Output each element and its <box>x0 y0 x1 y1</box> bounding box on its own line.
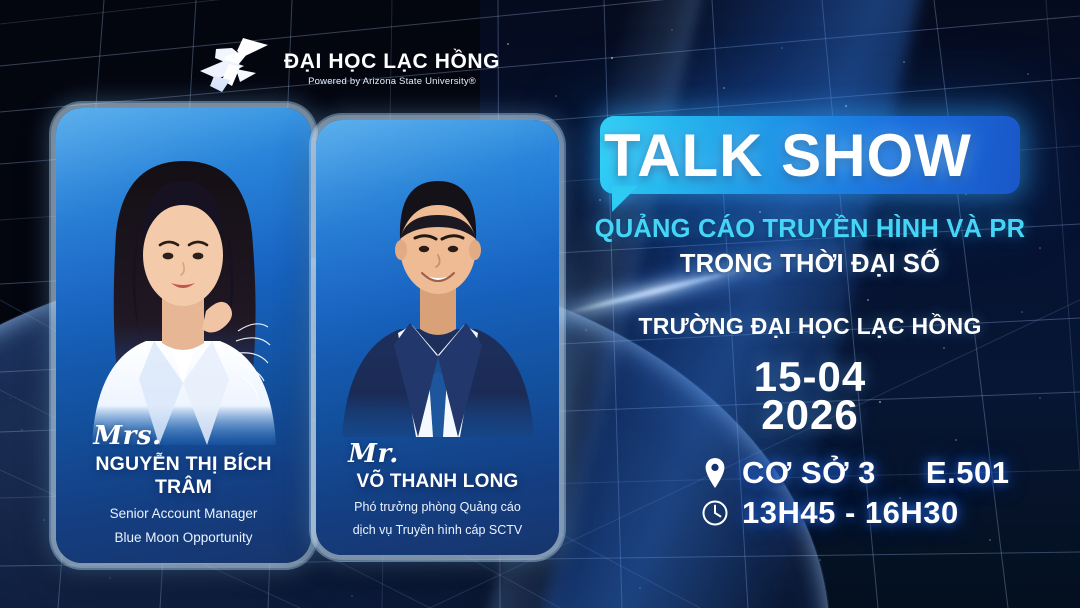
speaker-role-line1: Senior Account Manager <box>64 505 303 523</box>
talk-show-title: TALK SHOW <box>604 118 1044 192</box>
speaker-card[interactable]: Mr. VÕ THANH LONG Phó trưởng phòng Quảng… <box>316 120 559 555</box>
venue-campus: CƠ SỞ 3 <box>742 455 876 491</box>
speaker-name-block: Mr. VÕ THANH LONG Phó trưởng phòng Quảng… <box>316 441 559 539</box>
location-pin-icon <box>700 456 730 490</box>
speaker-role-line2: Blue Moon Opportunity <box>64 529 303 547</box>
time-range: 13H45 - 16H30 <box>742 495 959 531</box>
lac-hong-bird-logo-icon <box>196 36 274 96</box>
headline-line2: TRONG THỜI ĐẠI SỐ <box>580 250 1040 279</box>
speaker-portrait <box>56 115 311 445</box>
speaker-honorific: Mr. <box>316 441 551 467</box>
speaker-name: VÕ THANH LONG <box>324 471 551 493</box>
time-row: 13H45 - 16H30 <box>700 495 959 531</box>
clock-icon <box>700 496 730 530</box>
poster-canvas: ĐẠI HỌC LẠC HỒNG Powered by Arizona Stat… <box>0 0 1080 608</box>
logo-title: ĐẠI HỌC LẠC HỒNG <box>284 50 500 74</box>
speaker-portrait <box>316 120 559 437</box>
university-logo: ĐẠI HỌC LẠC HỒNG Powered by Arizona Stat… <box>196 36 500 96</box>
speaker-honorific: Mrs. <box>56 423 303 449</box>
speaker-role-line1: Phó trưởng phòng Quảng cáo <box>324 499 551 516</box>
speaker-name-block: Mrs. NGUYỄN THỊ BÍCH TRÂM Senior Account… <box>56 423 311 547</box>
venue-room: E.501 <box>926 455 1010 491</box>
logo-tagline: Powered by Arizona State University® <box>284 76 500 87</box>
event-date-year: 2026 <box>580 394 1040 437</box>
organizer-name: TRƯỜNG ĐẠI HỌC LẠC HỒNG <box>580 313 1040 340</box>
venue-row: CƠ SỞ 3 E.501 <box>700 455 1009 491</box>
speaker-role-line2: dịch vụ Truyền hình cáp SCTV <box>324 522 551 539</box>
speaker-card[interactable]: Mrs. NGUYỄN THỊ BÍCH TRÂM Senior Account… <box>56 108 311 563</box>
speaker-name: NGUYỄN THỊ BÍCH TRÂM <box>64 453 303 499</box>
headline-line1: QUẢNG CÁO TRUYỀN HÌNH VÀ PR <box>580 215 1040 244</box>
